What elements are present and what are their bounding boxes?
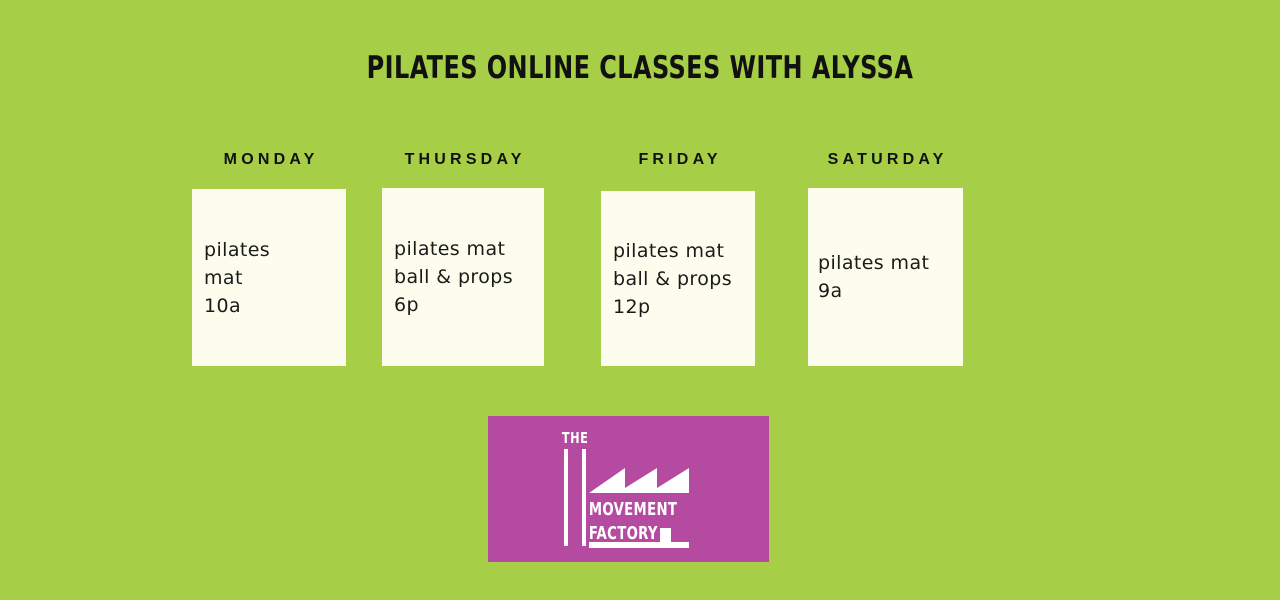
schedule-row: MONDAY pilates mat 10a THURSDAY pilates … [0, 150, 1280, 380]
page-title: PILATES ONLINE CLASSES WITH ALYSSA [90, 50, 1191, 86]
class-card-line: pilates mat [601, 237, 755, 265]
logo-line-movement: MOVEMENT [589, 499, 678, 520]
class-card-monday[interactable]: pilates mat 10a [192, 189, 346, 366]
schedule-column-thursday: THURSDAY pilates mat ball & props 6p [382, 150, 544, 366]
class-card-line: ball & props [601, 265, 755, 293]
class-card-line: mat [192, 264, 346, 292]
logo-bar-left [564, 449, 568, 546]
schedule-column-monday: MONDAY pilates mat 10a [192, 150, 346, 366]
logo-sawtooth-roof [589, 468, 689, 493]
class-card-time: 10a [192, 292, 346, 320]
class-card-line: pilates mat [808, 249, 963, 277]
class-card-time: 12p [601, 293, 755, 321]
class-card-thursday[interactable]: pilates mat ball & props 6p [382, 188, 544, 366]
day-header-thursday: THURSDAY [382, 150, 544, 170]
logo-bar-right [582, 449, 586, 546]
logo-line-the: THE [562, 430, 588, 447]
schedule-column-friday: FRIDAY pilates mat ball & props 12p [601, 150, 755, 366]
factory-sawtooth-roof-icon: THE MOVEMENT FACTORY [488, 416, 769, 562]
day-header-friday: FRIDAY [601, 150, 755, 170]
day-header-monday: MONDAY [192, 150, 346, 170]
class-card-time: 9a [808, 277, 963, 305]
class-card-line: pilates [192, 236, 346, 264]
day-header-saturday: SATURDAY [808, 150, 963, 170]
class-card-line: pilates mat [382, 235, 544, 263]
class-card-friday[interactable]: pilates mat ball & props 12p [601, 191, 755, 366]
class-card-time: 6p [382, 291, 544, 319]
logo-line-factory: FACTORY [589, 523, 658, 544]
logo-base-bar [589, 542, 689, 548]
poster-canvas: PILATES ONLINE CLASSES WITH ALYSSA MONDA… [0, 0, 1280, 600]
class-card-line: ball & props [382, 263, 544, 291]
brand-logo[interactable]: THE MOVEMENT FACTORY [488, 416, 769, 562]
class-card-saturday[interactable]: pilates mat 9a [808, 188, 963, 366]
schedule-column-saturday: SATURDAY pilates mat 9a [808, 150, 963, 366]
